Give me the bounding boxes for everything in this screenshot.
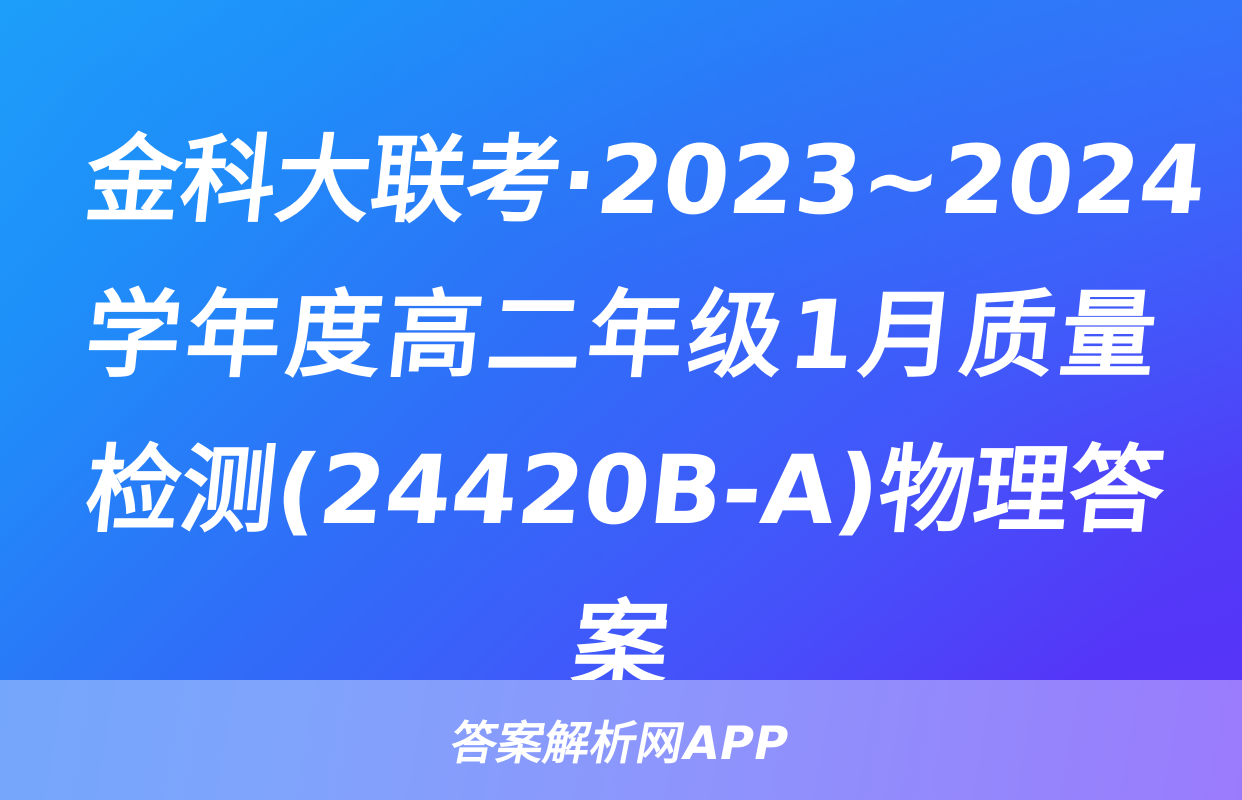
title-char: 量 — [1053, 259, 1164, 414]
footer-watermark-text: 答案解析网APP — [446, 707, 796, 773]
footer-watermark-band: 答案解析网APP — [0, 680, 1242, 800]
title-char: 年 — [580, 259, 691, 414]
title-char: 金 — [78, 104, 189, 259]
title-char: 度 — [279, 259, 390, 414]
title-char: 物 — [871, 414, 982, 569]
title-char: 高 — [379, 259, 490, 414]
title-char: 答 — [1061, 414, 1172, 569]
title-char: 大 — [268, 104, 379, 259]
title-char: 科 — [173, 104, 284, 259]
title-line-2: 学 年 度 高 二 年 级 1 月 质 量 — [78, 259, 1164, 414]
title-line-1: 金 科 大 联 考 · 2 0 2 3 ~ 2 0 2 4 — [78, 104, 1164, 259]
title-char: 检 — [78, 414, 189, 569]
title-char: 级 — [680, 259, 791, 414]
title-char: 联 — [363, 104, 474, 259]
title-char: 学 — [78, 259, 189, 414]
title-char: 年 — [178, 259, 289, 414]
title-char: 二 — [479, 259, 590, 414]
title-char: 月 — [852, 259, 963, 414]
title-char: 理 — [966, 414, 1077, 569]
title-line-3: 检 测 ( 2 4 4 2 0 B - A ) 物 理 答 — [78, 414, 1164, 569]
title-char: 质 — [952, 259, 1063, 414]
poster-title: 金 科 大 联 考 · 2 0 2 3 ~ 2 0 2 4 学 年 度 高 二 … — [0, 104, 1242, 724]
title-char: 考 — [458, 104, 569, 259]
title-char: 1 — [780, 259, 862, 414]
title-char: 测 — [173, 414, 284, 569]
poster-root: 金 科 大 联 考 · 2 0 2 3 ~ 2 0 2 4 学 年 度 高 二 … — [0, 0, 1242, 800]
